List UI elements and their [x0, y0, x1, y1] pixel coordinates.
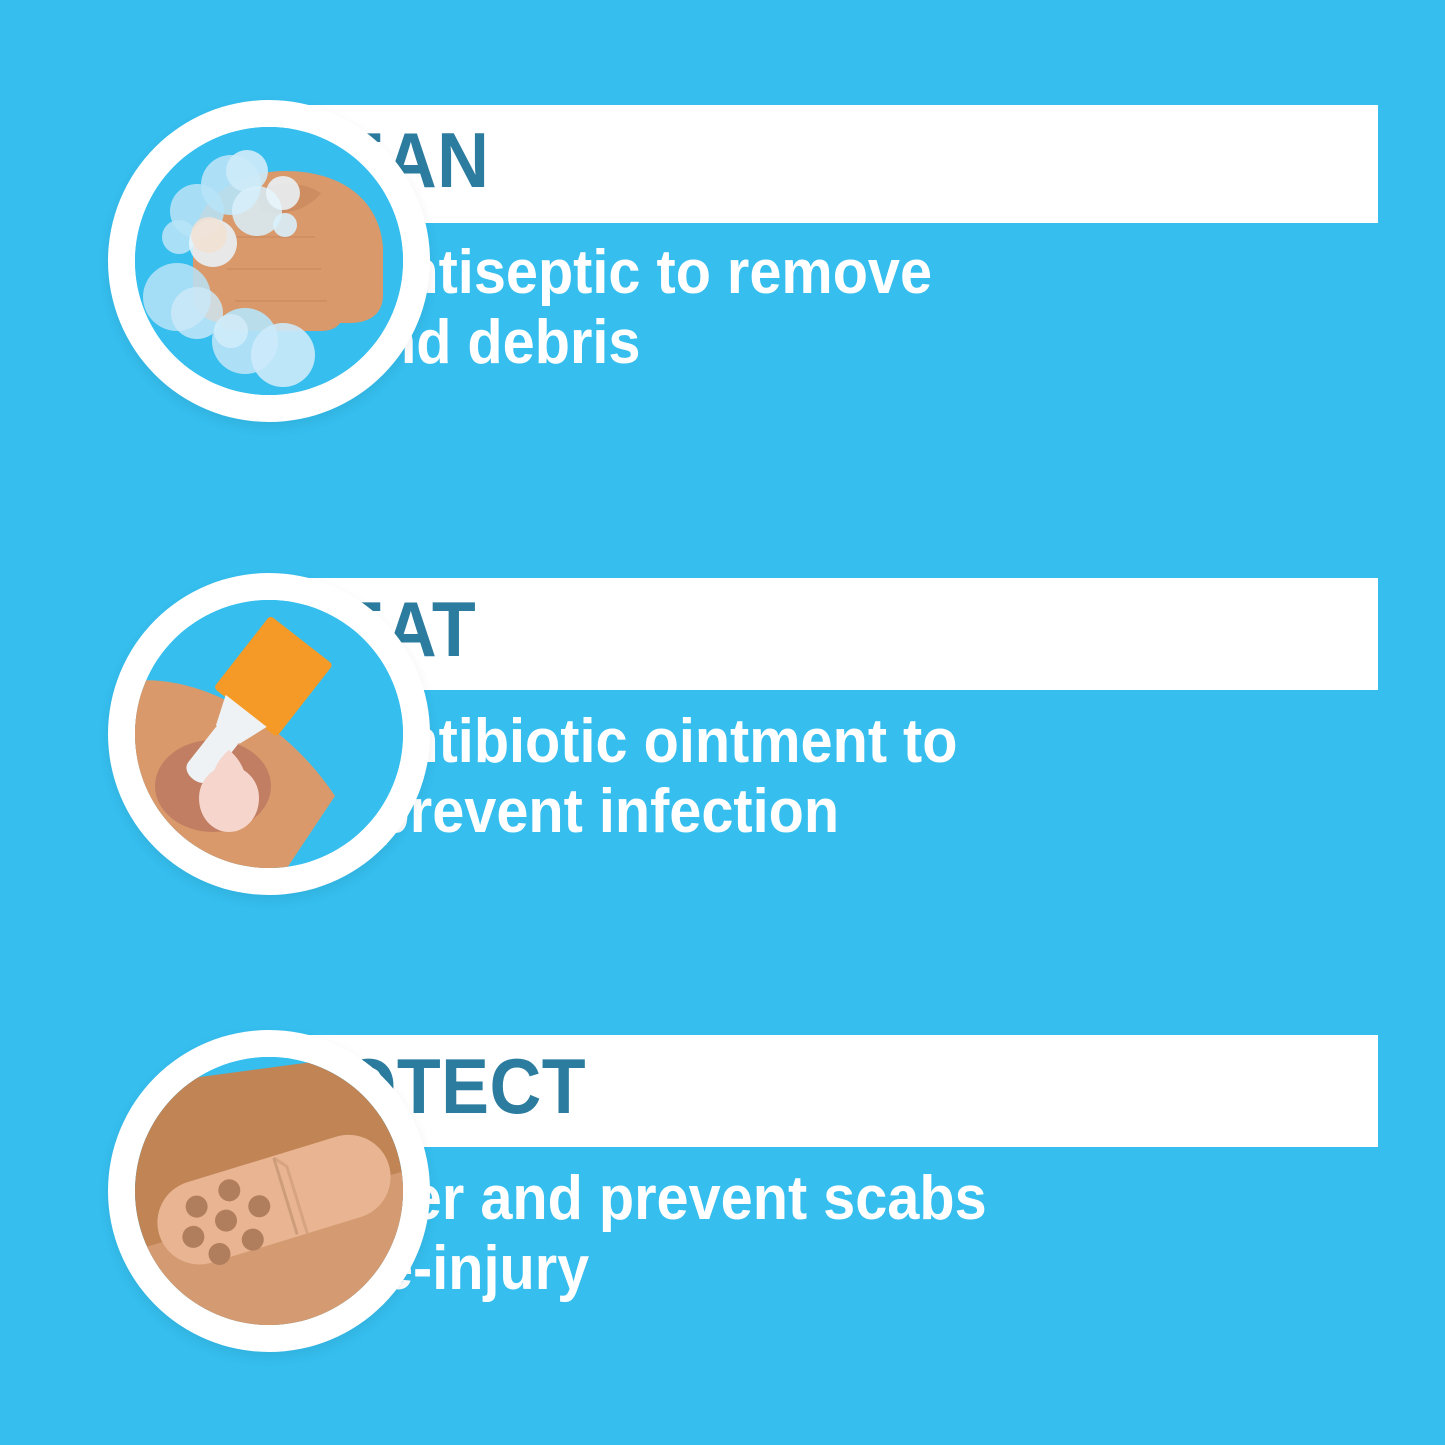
step-badge-treat	[108, 573, 430, 895]
step-row-clean: CLEAN with antiseptic to remove dirt and…	[0, 90, 1445, 450]
ointment-tube-on-wound-icon	[135, 600, 403, 868]
adhesive-bandage-on-skin-icon	[135, 1057, 403, 1325]
step-row-treat: TREAT with antibiotic ointment to help p…	[0, 563, 1445, 923]
step-row-protect: PROTECT to cover and prevent scabs and r…	[0, 1020, 1445, 1380]
washing-hands-with-soap-icon	[135, 127, 403, 395]
step-badge-clean	[108, 100, 430, 422]
step-badge-protect	[108, 1030, 430, 1352]
infographic-canvas: CLEAN with antiseptic to remove dirt and…	[0, 0, 1445, 1445]
